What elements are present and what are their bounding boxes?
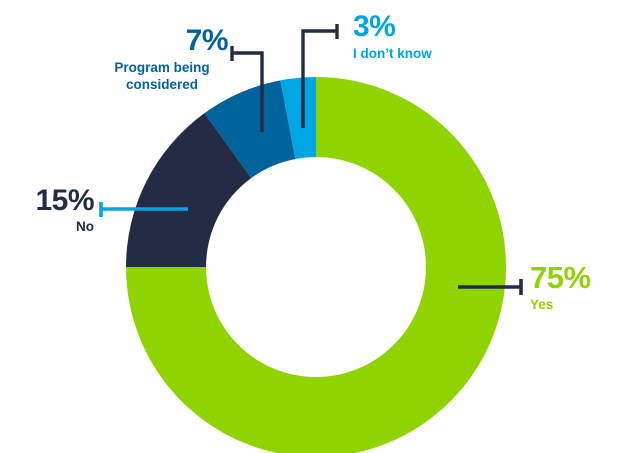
slice-category-yes: Yes	[530, 298, 591, 312]
slice-category-considered: Program being considered	[96, 60, 228, 94]
slice-percent-yes: 75%	[530, 262, 591, 293]
slice-category-idontknow: I don’t know	[353, 47, 432, 61]
slice-percent-no: 15%	[12, 186, 94, 216]
slice-label-no: 15% No	[12, 186, 94, 234]
slice-percent-idontknow: 3%	[353, 12, 432, 42]
slice-label-yes: 75% Yes	[530, 262, 591, 312]
chart-canvas: 7% Program being considered 3% I don’t k…	[0, 0, 619, 453]
slice-label-considered: 7% Program being considered	[96, 26, 228, 94]
donut-segments	[126, 77, 506, 453]
slice-percent-considered: 7%	[96, 26, 228, 56]
slice-category-no: No	[12, 220, 94, 234]
slice-label-idontknow: 3% I don’t know	[353, 12, 432, 61]
